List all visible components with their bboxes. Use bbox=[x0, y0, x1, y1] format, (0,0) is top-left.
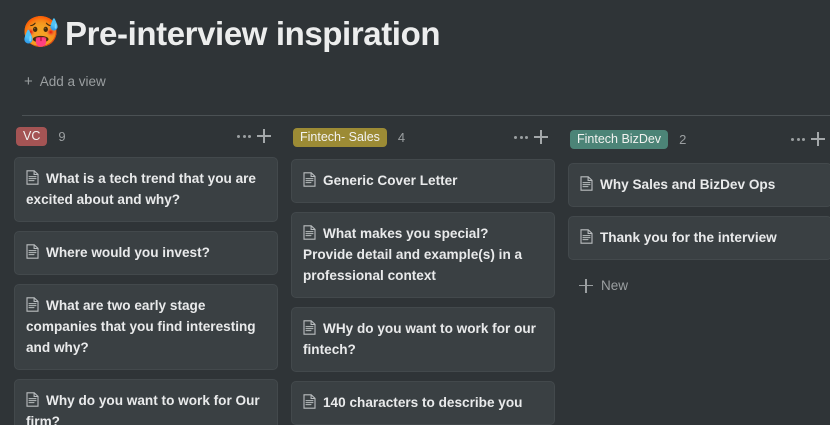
board-column-vc: VC 9 What is a tech trend that you are e… bbox=[14, 126, 278, 425]
document-icon bbox=[26, 244, 39, 259]
board-column-fintech-sales: Fintech- Sales 4 Generic Cover LetterWha… bbox=[291, 126, 555, 425]
ellipsis-icon bbox=[514, 136, 528, 139]
new-card-label: New bbox=[601, 278, 628, 293]
document-icon bbox=[303, 225, 316, 240]
add-a-view-label: Add a view bbox=[40, 74, 106, 89]
column-badge-vc[interactable]: VC bbox=[16, 127, 47, 146]
view-bar: + Add a view bbox=[22, 68, 830, 94]
column-header: Fintech BizDev 2 bbox=[568, 126, 830, 152]
card[interactable]: Where would you invest? bbox=[14, 231, 278, 275]
card[interactable]: What is a tech trend that you are excite… bbox=[14, 157, 278, 222]
card[interactable]: Why do you want to work for Our firm? bbox=[14, 379, 278, 425]
page-header: 🥵 Pre-interview inspiration + Add a view bbox=[0, 0, 830, 94]
card[interactable]: Why Sales and BizDev Ops bbox=[568, 163, 830, 207]
document-icon bbox=[580, 229, 593, 244]
document-icon bbox=[303, 172, 316, 187]
board-column-fintech-bizdev: Fintech BizDev 2 Why Sales and BizDev Op… bbox=[568, 126, 830, 425]
column-add-card-button[interactable] bbox=[254, 126, 274, 146]
ellipsis-icon bbox=[237, 135, 251, 138]
column-add-card-button[interactable] bbox=[808, 129, 828, 149]
hot-face-emoji: 🥵 bbox=[22, 18, 54, 50]
add-a-view-button[interactable]: + Add a view bbox=[22, 72, 108, 91]
column-menu-button[interactable] bbox=[511, 127, 531, 147]
document-icon bbox=[303, 320, 316, 335]
document-icon bbox=[26, 297, 39, 312]
card-title: What makes you special? Provide detail a… bbox=[303, 223, 542, 286]
card-title: Generic Cover Letter bbox=[303, 170, 542, 191]
card[interactable]: Generic Cover Letter bbox=[291, 159, 555, 203]
document-icon bbox=[303, 394, 316, 409]
card-title: Where would you invest? bbox=[26, 242, 265, 263]
document-icon bbox=[26, 392, 39, 407]
column-body: Why Sales and BizDev OpsThank you for th… bbox=[568, 163, 830, 302]
plus-icon bbox=[534, 130, 548, 144]
column-count: 2 bbox=[679, 132, 686, 147]
board-app: 🥵 Pre-interview inspiration + Add a view… bbox=[0, 0, 830, 425]
column-header: VC 9 bbox=[14, 126, 278, 146]
card[interactable]: 140 characters to describe you bbox=[291, 381, 555, 425]
header-divider bbox=[22, 115, 830, 116]
ellipsis-icon bbox=[791, 138, 805, 141]
card-title: Why do you want to work for Our firm? bbox=[26, 390, 265, 425]
card[interactable]: WHy do you want to work for our fintech? bbox=[291, 307, 555, 372]
column-body: What is a tech trend that you are excite… bbox=[14, 157, 278, 425]
kanban-board: VC 9 What is a tech trend that you are e… bbox=[0, 126, 830, 425]
card-title: What are two early stage companies that … bbox=[26, 295, 265, 358]
plus-icon: + bbox=[24, 74, 33, 89]
plus-icon bbox=[811, 132, 825, 146]
column-menu-button[interactable] bbox=[788, 129, 808, 149]
column-badge-fintech-bizdev[interactable]: Fintech BizDev bbox=[570, 130, 668, 149]
column-add-card-button[interactable] bbox=[531, 127, 551, 147]
card[interactable]: Thank you for the interview bbox=[568, 216, 830, 260]
column-count: 4 bbox=[398, 130, 405, 145]
document-icon bbox=[580, 176, 593, 191]
document-icon bbox=[26, 170, 39, 185]
card-title: WHy do you want to work for our fintech? bbox=[303, 318, 542, 360]
page-title-text: Pre-interview inspiration bbox=[65, 14, 440, 54]
card-title: Thank you for the interview bbox=[580, 227, 819, 248]
column-menu-button[interactable] bbox=[234, 126, 254, 146]
card-title: 140 characters to describe you bbox=[303, 392, 542, 413]
column-badge-fintech-sales[interactable]: Fintech- Sales bbox=[293, 128, 387, 147]
plus-icon bbox=[257, 129, 271, 143]
page-title: 🥵 Pre-interview inspiration bbox=[22, 14, 830, 54]
card-title: What is a tech trend that you are excite… bbox=[26, 168, 265, 210]
column-header: Fintech- Sales 4 bbox=[291, 126, 555, 148]
column-body: Generic Cover LetterWhat makes you speci… bbox=[291, 159, 555, 425]
column-count: 9 bbox=[58, 129, 65, 144]
new-card-button[interactable]: New bbox=[568, 269, 830, 302]
card[interactable]: What makes you special? Provide detail a… bbox=[291, 212, 555, 298]
card-title: Why Sales and BizDev Ops bbox=[580, 174, 819, 195]
plus-icon bbox=[579, 279, 593, 293]
card[interactable]: What are two early stage companies that … bbox=[14, 284, 278, 370]
